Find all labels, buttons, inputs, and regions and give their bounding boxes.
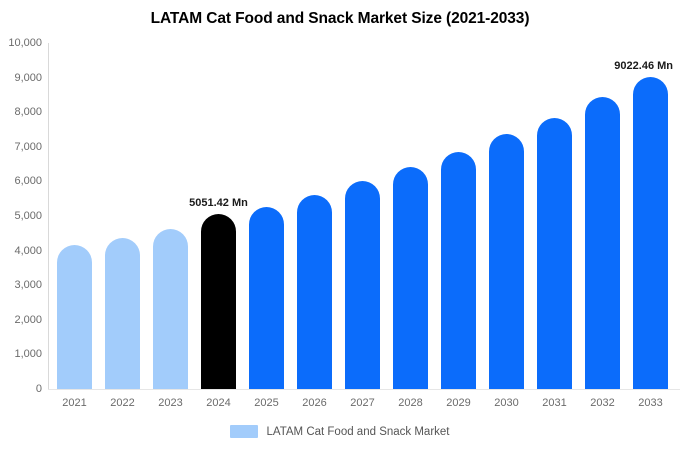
x-axis-tick-label: 2033 xyxy=(633,397,668,409)
bar-value-label: 9022.46 Mn xyxy=(614,60,673,72)
bar-group xyxy=(345,43,380,389)
y-axis: 01,0002,0003,0004,0005,0006,0007,0008,00… xyxy=(0,43,42,389)
y-axis-tick-label: 3,000 xyxy=(0,279,42,291)
bar-2022[interactable] xyxy=(105,238,140,389)
bar-group xyxy=(249,43,284,389)
bar-group xyxy=(393,43,428,389)
bar-group xyxy=(105,43,140,389)
x-axis: 2021202220232024202520262027202820292030… xyxy=(48,397,680,415)
y-axis-tick-label: 1,000 xyxy=(0,348,42,360)
bar-2021[interactable] xyxy=(57,245,92,389)
bar-group xyxy=(585,43,620,389)
x-axis-tick-label: 2028 xyxy=(393,397,428,409)
bar-group xyxy=(489,43,524,389)
bar-2023[interactable] xyxy=(153,229,188,389)
bar-group xyxy=(153,43,188,389)
bar-group: 5051.42 Mn xyxy=(201,43,236,389)
x-axis-tick-label: 2023 xyxy=(153,397,188,409)
bar-group xyxy=(537,43,572,389)
y-axis-tick-label: 2,000 xyxy=(0,314,42,326)
bar-2027[interactable] xyxy=(345,181,380,389)
chart-title: LATAM Cat Food and Snack Market Size (20… xyxy=(0,10,680,28)
legend-item-label: LATAM Cat Food and Snack Market xyxy=(266,426,449,438)
bar-value-label: 5051.42 Mn xyxy=(189,197,248,209)
bar-group xyxy=(57,43,92,389)
bar-chart: LATAM Cat Food and Snack Market Size (20… xyxy=(0,0,680,450)
x-axis-line xyxy=(48,389,680,390)
x-axis-tick-label: 2025 xyxy=(249,397,284,409)
bar-2031[interactable] xyxy=(537,118,572,389)
x-axis-tick-label: 2027 xyxy=(345,397,380,409)
y-axis-tick-label: 10,000 xyxy=(0,37,42,49)
y-axis-tick-label: 7,000 xyxy=(0,141,42,153)
bar-group xyxy=(441,43,476,389)
bar-2026[interactable] xyxy=(297,195,332,389)
plot-area: 5051.42 Mn9022.46 Mn xyxy=(48,43,680,389)
bar-2029[interactable] xyxy=(441,152,476,389)
chart-legend: LATAM Cat Food and Snack Market xyxy=(0,425,680,438)
legend-item[interactable]: LATAM Cat Food and Snack Market xyxy=(230,425,449,438)
bar-2025[interactable] xyxy=(249,207,284,389)
x-axis-tick-label: 2026 xyxy=(297,397,332,409)
x-axis-tick-label: 2029 xyxy=(441,397,476,409)
bar-2032[interactable] xyxy=(585,97,620,389)
y-axis-tick-label: 5,000 xyxy=(0,210,42,222)
bar-2030[interactable] xyxy=(489,134,524,389)
y-axis-tick-label: 4,000 xyxy=(0,245,42,257)
legend-swatch-icon xyxy=(230,425,258,438)
bar-group: 9022.46 Mn xyxy=(633,43,668,389)
y-axis-tick-label: 0 xyxy=(0,383,42,395)
x-axis-tick-label: 2022 xyxy=(105,397,140,409)
x-axis-tick-label: 2030 xyxy=(489,397,524,409)
x-axis-tick-label: 2021 xyxy=(57,397,92,409)
bar-2024[interactable]: 5051.42 Mn xyxy=(201,214,236,389)
y-axis-tick-label: 8,000 xyxy=(0,106,42,118)
y-axis-tick-label: 6,000 xyxy=(0,175,42,187)
y-axis-tick-label: 9,000 xyxy=(0,72,42,84)
bar-group xyxy=(297,43,332,389)
bar-2033[interactable]: 9022.46 Mn xyxy=(633,77,668,389)
bar-2028[interactable] xyxy=(393,167,428,389)
x-axis-tick-label: 2024 xyxy=(201,397,236,409)
x-axis-tick-label: 2031 xyxy=(537,397,572,409)
x-axis-tick-label: 2032 xyxy=(585,397,620,409)
